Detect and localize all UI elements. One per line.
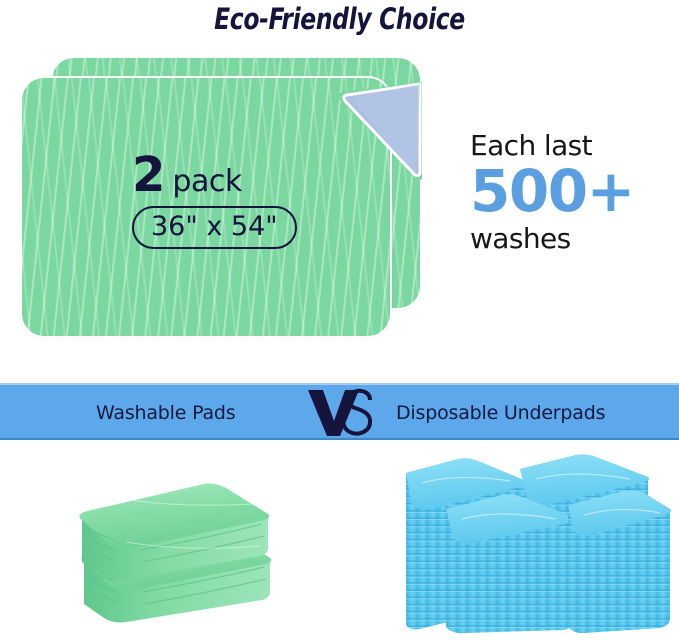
durability-claim: Each last 500+ washes <box>470 131 675 253</box>
claim-line-1: Each last <box>470 131 675 160</box>
disposable-underpads-photo <box>398 447 674 634</box>
pack-count-number: 2 <box>132 153 164 199</box>
comparison-label-left: Washable Pads <box>96 402 235 424</box>
claim-line-2: washes <box>470 224 675 253</box>
versus-icon <box>306 386 378 438</box>
pack-count-word: pack <box>172 164 241 199</box>
dimensions-badge: 36" x 54" <box>132 206 297 249</box>
washable-pads-photo <box>56 462 276 627</box>
claim-wash-count: 500+ <box>470 162 675 221</box>
comparison-label-right: Disposable Underpads <box>396 402 605 424</box>
page-title: Eco-Friendly Choice <box>34 2 645 36</box>
pack-count-line: 2 pack <box>132 153 362 199</box>
pad-text-block: 2 pack 36" x 54" <box>132 153 362 249</box>
hero-pad-illustration: 2 pack 36" x 54" <box>22 58 420 343</box>
